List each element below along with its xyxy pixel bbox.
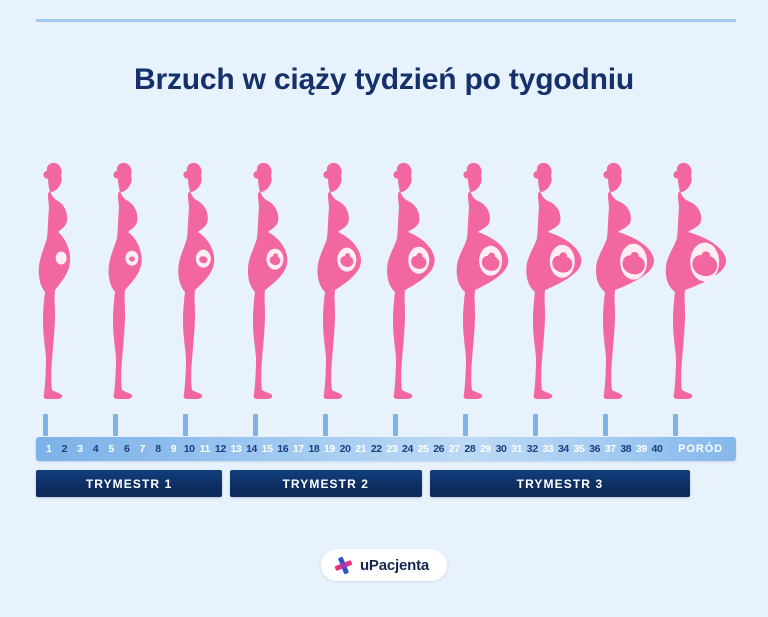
pregnancy-figures-row	[36, 158, 736, 408]
body-silhouette	[526, 163, 581, 399]
week-number-bar: 1234567891011121314151617181920212223242…	[36, 437, 736, 461]
silhouette-svg	[374, 158, 446, 408]
week-number: 21	[353, 444, 369, 455]
fetus-head	[345, 253, 350, 258]
week-number: 30	[493, 444, 509, 455]
week-number: 28	[462, 444, 478, 455]
week-number: 4	[88, 444, 104, 455]
womb-ellipse	[56, 252, 67, 265]
week-number: 25	[415, 444, 431, 455]
week-number: 32	[524, 444, 540, 455]
week-number: 23	[384, 444, 400, 455]
week-number: 37	[602, 444, 618, 455]
week-number: 5	[103, 444, 119, 455]
week-number: 39	[634, 444, 650, 455]
week-number: 22	[368, 444, 384, 455]
silhouette-svg	[164, 158, 236, 408]
week-number: 26	[431, 444, 447, 455]
week-number: 9	[166, 444, 182, 455]
week-number: 1	[41, 444, 57, 455]
axis-tick	[43, 414, 48, 436]
axis-tick	[113, 414, 118, 436]
fetus-head	[273, 253, 278, 258]
brand-logo: uPacjenta	[321, 549, 447, 581]
pregnant-figure-week-40	[654, 158, 726, 408]
silhouette-svg	[304, 158, 376, 408]
upacjenta-cross-icon	[334, 556, 353, 575]
week-number: 36	[587, 444, 603, 455]
page-title: Brzuch w ciąży tydzień po tygodniu	[0, 62, 768, 98]
axis-tick	[603, 414, 608, 436]
fetus-head	[488, 253, 495, 260]
week-number: 38	[618, 444, 634, 455]
week-number: 15	[259, 444, 275, 455]
fetus-head	[560, 252, 567, 259]
week-number: 12	[213, 444, 229, 455]
silhouette-svg	[654, 158, 726, 408]
infographic-root: Brzuch w ciąży tydzień po tygodniu 12345…	[0, 0, 768, 617]
week-number: 33	[540, 444, 556, 455]
week-number: 2	[57, 444, 73, 455]
fetus-head	[631, 252, 639, 260]
silhouette-svg	[234, 158, 306, 408]
week-number: 31	[509, 444, 525, 455]
trimester-bars: TRYMESTR 1TRYMESTR 2TRYMESTR 3	[36, 470, 736, 497]
trimester-label: TRYMESTR 3	[517, 477, 604, 491]
logo-text: uPacjenta	[360, 557, 429, 574]
trimester-bar: TRYMESTR 2	[230, 470, 422, 497]
pregnant-figure-week-36	[584, 158, 656, 408]
trimester-bar: TRYMESTR 3	[430, 470, 690, 497]
axis-tick	[533, 414, 538, 436]
week-number: 3	[72, 444, 88, 455]
silhouette-svg	[94, 158, 166, 408]
week-number: 14	[244, 444, 260, 455]
trimester-label: TRYMESTR 2	[283, 477, 370, 491]
body-silhouette	[317, 163, 360, 399]
pregnant-figure-week-8	[94, 158, 166, 408]
axis-tick	[253, 414, 258, 436]
trimester-bar: TRYMESTR 1	[36, 470, 222, 497]
pregnant-figure-week-16	[234, 158, 306, 408]
trimester-label: TRYMESTR 1	[86, 477, 173, 491]
week-number: 35	[571, 444, 587, 455]
axis-tick	[463, 414, 468, 436]
week-number: 40	[649, 444, 665, 455]
body-silhouette	[596, 163, 654, 399]
week-number: 29	[478, 444, 494, 455]
body-silhouette	[178, 163, 214, 399]
week-number: 20	[337, 444, 353, 455]
week-number: 18	[306, 444, 322, 455]
birth-label: PORÓD	[678, 443, 736, 455]
week-number: 24	[400, 444, 416, 455]
week-number: 19	[322, 444, 338, 455]
pregnant-figure-week-24	[374, 158, 446, 408]
body-silhouette	[109, 163, 142, 399]
body-silhouette	[248, 163, 287, 399]
silhouette-svg	[24, 158, 96, 408]
week-number: 13	[228, 444, 244, 455]
axis-line	[36, 19, 736, 22]
week-number: 27	[446, 444, 462, 455]
week-number: 7	[135, 444, 151, 455]
week-number: 17	[291, 444, 307, 455]
axis-tick	[183, 414, 188, 436]
week-number: 10	[181, 444, 197, 455]
week-number: 6	[119, 444, 135, 455]
week-number: 34	[556, 444, 572, 455]
axis-tick	[673, 414, 678, 436]
body-silhouette	[666, 163, 726, 399]
axis-ticks	[36, 414, 736, 436]
axis-tick	[393, 414, 398, 436]
body-silhouette	[39, 163, 70, 399]
pregnant-figure-week-12	[164, 158, 236, 408]
body-silhouette	[387, 163, 435, 399]
pregnant-figure-week-28	[444, 158, 516, 408]
body-silhouette	[457, 163, 509, 399]
silhouette-svg	[514, 158, 586, 408]
pregnant-figure-week-4	[24, 158, 96, 408]
fetus-head	[702, 251, 711, 260]
week-number: 8	[150, 444, 166, 455]
axis-tick	[323, 414, 328, 436]
week-number: 16	[275, 444, 291, 455]
week-numbers: 1234567891011121314151617181920212223242…	[36, 437, 665, 461]
pregnant-figure-week-20	[304, 158, 376, 408]
fetus-head	[417, 253, 423, 259]
silhouette-svg	[444, 158, 516, 408]
pregnant-figure-week-32	[514, 158, 586, 408]
week-number: 11	[197, 444, 213, 455]
silhouette-svg	[584, 158, 656, 408]
